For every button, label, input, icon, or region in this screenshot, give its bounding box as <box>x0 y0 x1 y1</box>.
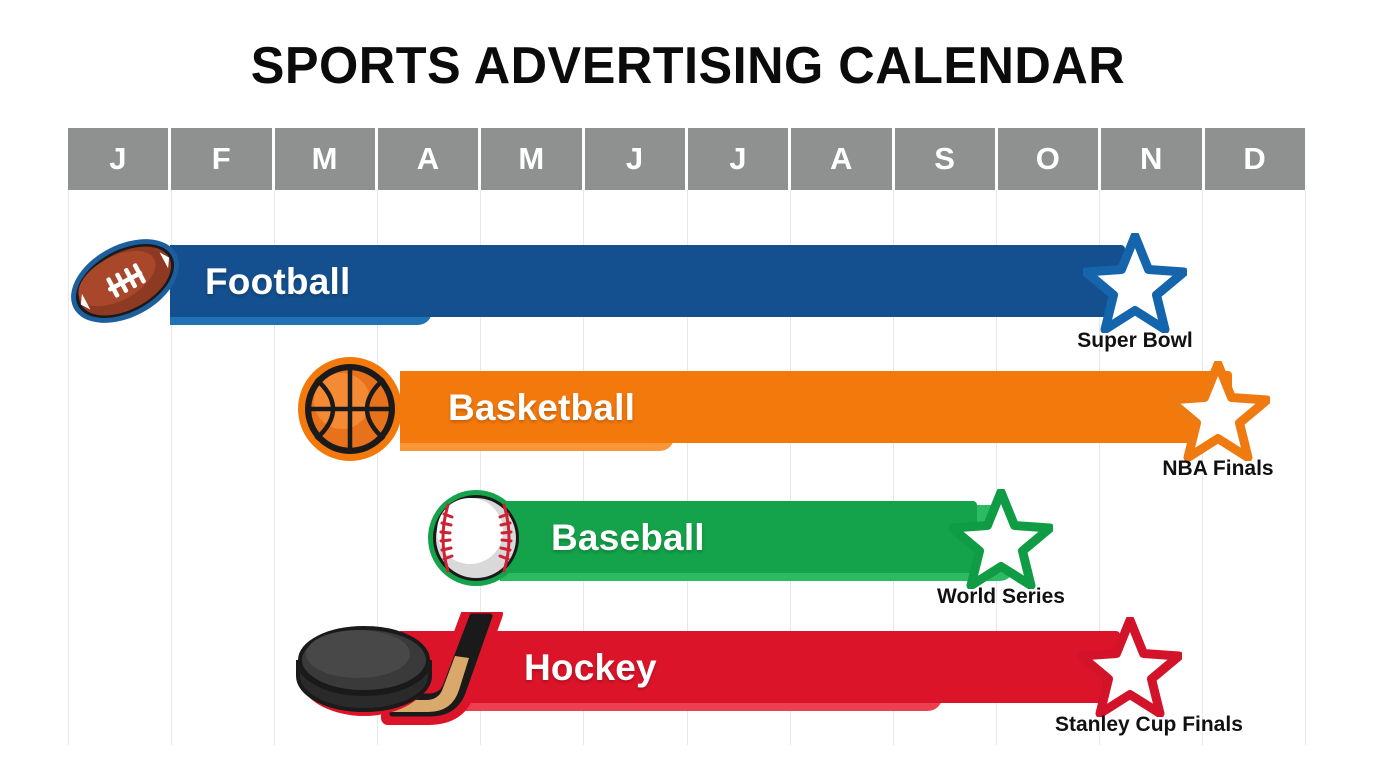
sports-advertising-calendar: SPORTS ADVERTISING CALENDAR J F M A M J … <box>0 0 1376 768</box>
football-icon <box>64 229 186 334</box>
stanley-cup-finals-label: Stanley Cup Finals <box>1055 713 1205 737</box>
month-cell-11: N <box>1101 128 1201 190</box>
month-cell-2: F <box>171 128 271 190</box>
month-cell-9: S <box>895 128 995 190</box>
nba-finals-label: NBA Finals <box>1143 457 1293 481</box>
super-bowl-star-icon <box>1083 233 1187 333</box>
month-cell-5: M <box>481 128 581 190</box>
month-cell-3: M <box>275 128 375 190</box>
month-cell-6: J <box>585 128 685 190</box>
basketball-bar-label: Basketball <box>448 387 635 429</box>
baseball-icon <box>426 489 526 587</box>
hockey-bar-label: Hockey <box>524 647 657 689</box>
month-cell-10: O <box>998 128 1098 190</box>
month-cell-12: D <box>1205 128 1305 190</box>
month-header-row: J F M A M J J A S O N D <box>68 128 1305 190</box>
nba-finals-star-icon <box>1166 361 1270 461</box>
super-bowl-label: Super Bowl <box>1060 329 1210 353</box>
baseball-bar-label: Baseball <box>551 517 705 559</box>
gridline <box>1305 190 1306 745</box>
hockey-icon <box>292 612 532 727</box>
world-series-star-icon <box>949 489 1053 589</box>
football-bar-label: Football <box>205 261 350 303</box>
month-cell-1: J <box>68 128 168 190</box>
month-cell-7: J <box>688 128 788 190</box>
month-cell-4: A <box>378 128 478 190</box>
basketball-icon <box>296 357 404 461</box>
month-cell-8: A <box>791 128 891 190</box>
world-series-label: World Series <box>926 585 1076 609</box>
stanley-cup-finals-star-icon <box>1078 617 1182 717</box>
row-hockey: Hockey Stanley Cup Finals <box>0 0 1376 130</box>
